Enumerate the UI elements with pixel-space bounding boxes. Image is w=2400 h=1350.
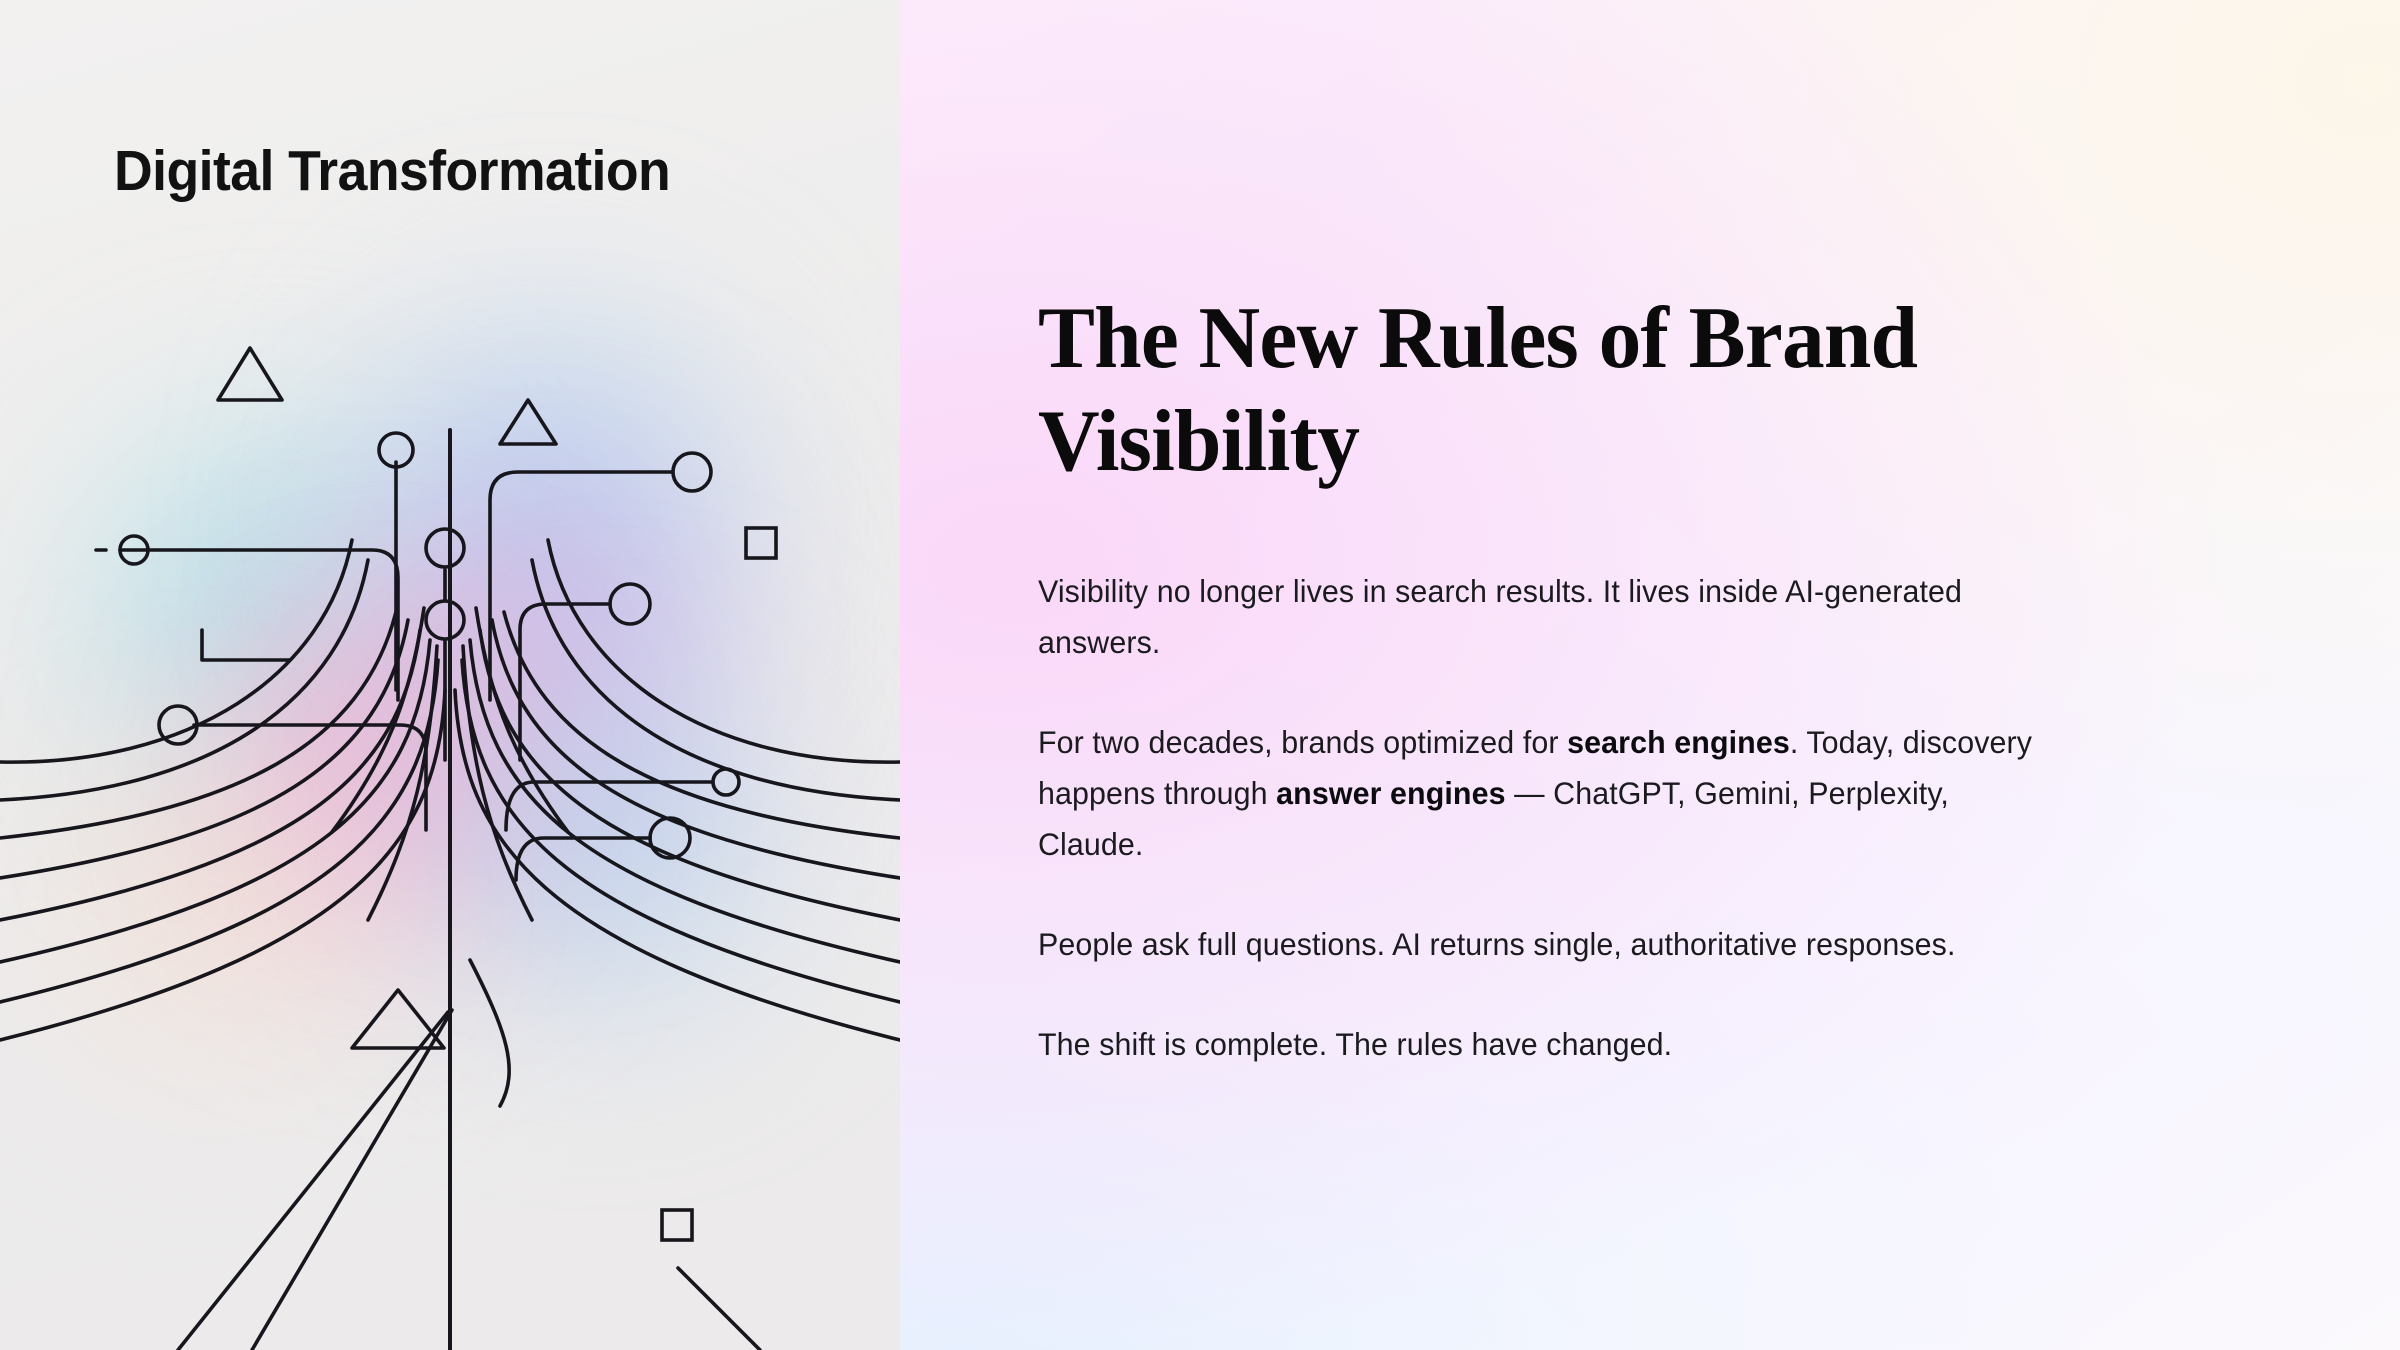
triangle-marker (500, 400, 556, 444)
deck-label: Digital Transformation (114, 138, 670, 204)
page-title: The New Rules of Brand Visibility (1038, 0, 2134, 494)
emphasis-text: search engines (1567, 724, 1790, 760)
square-marker (662, 1210, 692, 1240)
node-circle (426, 529, 464, 567)
paragraph-questions: People ask full questions. AI returns si… (1038, 919, 2061, 970)
node-circle (713, 769, 739, 795)
body-copy: Visibility no longer lives in search res… (1038, 566, 2168, 1070)
node-circle (610, 584, 650, 624)
node-circle (673, 453, 711, 491)
content-panel: The New Rules of Brand Visibility Visibi… (900, 0, 2400, 1350)
node-circle (650, 818, 690, 858)
emphasis-text: answer engines (1276, 775, 1505, 811)
paragraph-visibility: Visibility no longer lives in search res… (1038, 566, 2061, 668)
node-circle (159, 706, 197, 744)
content-column: The New Rules of Brand Visibility Visibi… (1038, 0, 2168, 1070)
triangle-marker (352, 990, 444, 1048)
illustration-panel: Digital Transformation (0, 0, 900, 1350)
slide-root: Digital Transformation The New Rules of … (0, 0, 2400, 1350)
triangle-marker (218, 348, 282, 400)
paragraph-shift: The shift is complete. The rules have ch… (1038, 1019, 2061, 1070)
square-marker (746, 528, 776, 558)
paragraph-search-vs-answer: For two decades, brands optimized for se… (1038, 717, 2061, 870)
node-circle (426, 601, 464, 639)
